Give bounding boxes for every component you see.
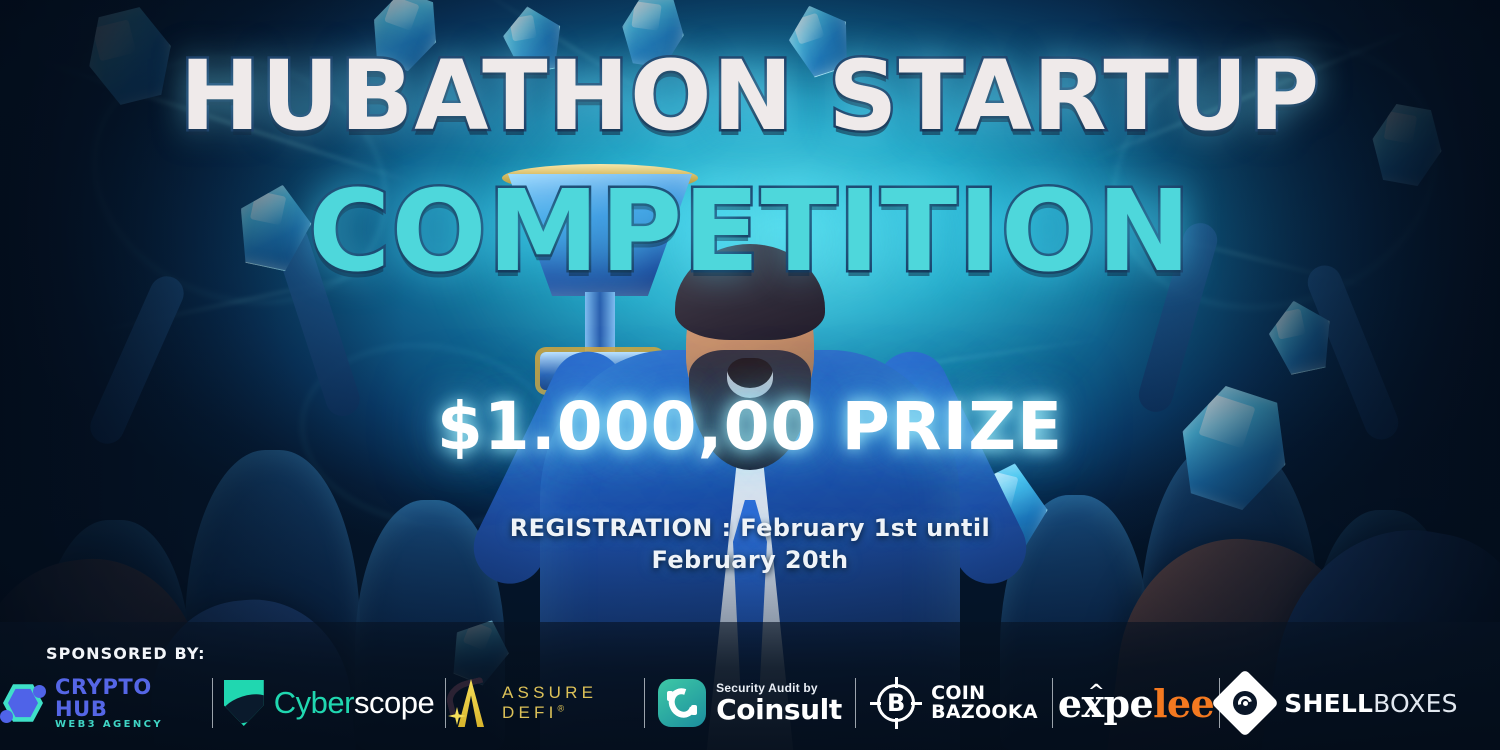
crosshair-b-target-icon: B <box>870 677 922 729</box>
assure-defi-name: ASSURE DEFI <box>502 683 597 722</box>
sponsor-logo-coinsult[interactable]: Security Audit by Coinsult <box>645 664 855 742</box>
coinsult-name: Coinsult <box>716 695 842 725</box>
sponsor-bar: SPONSORED BY: CRYPTO HUB WEB3 AGENCY Cyb… <box>0 622 1500 750</box>
sponsor-logo-assure-defi[interactable]: ASSURE DEFI® <box>446 664 644 742</box>
gold-a-sparkle-icon <box>446 677 494 729</box>
registration-line-2: February 20th <box>0 544 1500 576</box>
sponsor-logo-row: CRYPTO HUB WEB3 AGENCY Cyberscope ASSURE… <box>0 664 1500 742</box>
sponsor-logo-shellboxes[interactable]: SHELLBOXES <box>1220 664 1456 742</box>
expelee-name-part1: expe <box>1058 681 1153 726</box>
coinsult-c-icon <box>658 679 706 727</box>
shield-leaf-icon <box>224 680 264 726</box>
shellboxes-name-part1: SHELL <box>1284 689 1373 718</box>
diamond-spiral-shell-icon <box>1218 676 1272 730</box>
page-title-line-1: HUBATHON STARTUP <box>0 48 1500 144</box>
circumflex-accent: ^ <box>1088 679 1104 703</box>
sponsor-logo-cyberscope[interactable]: Cyberscope <box>213 664 445 742</box>
cyberscope-name-part2: scope <box>354 685 434 720</box>
registration-line-1: REGISTRATION : February 1st until <box>0 512 1500 544</box>
coin-bazooka-line-2: BAZOOKA <box>931 703 1038 722</box>
hexagon-network-icon <box>0 680 46 726</box>
sponsor-logo-coin-bazooka[interactable]: B COIN BAZOOKA <box>856 664 1052 742</box>
sponsored-by-label: SPONSORED BY: <box>46 644 206 663</box>
crypto-hub-tagline: WEB3 AGENCY <box>55 720 212 731</box>
sponsor-logo-crypto-hub[interactable]: CRYPTO HUB WEB3 AGENCY <box>0 664 212 742</box>
expelee-name-part2: lee <box>1153 681 1214 726</box>
promotional-banner: HUBATHON STARTUP COMPETITION $1.000,00 P… <box>0 0 1500 750</box>
registration-period: REGISTRATION : February 1st until Februa… <box>0 512 1500 577</box>
cyberscope-name-part1: Cyber <box>274 685 354 720</box>
prize-amount: $1.000,00 PRIZE <box>0 388 1500 465</box>
page-title-line-2: COMPETITION <box>0 176 1500 288</box>
crypto-hub-name: CRYPTO HUB <box>55 676 212 720</box>
expelee-wordmark: ^expelee <box>1058 681 1214 726</box>
registered-mark: ® <box>558 703 569 713</box>
shellboxes-name-part2: BOXES <box>1373 689 1458 718</box>
sponsor-logo-expelee[interactable]: ^expelee <box>1053 664 1219 742</box>
